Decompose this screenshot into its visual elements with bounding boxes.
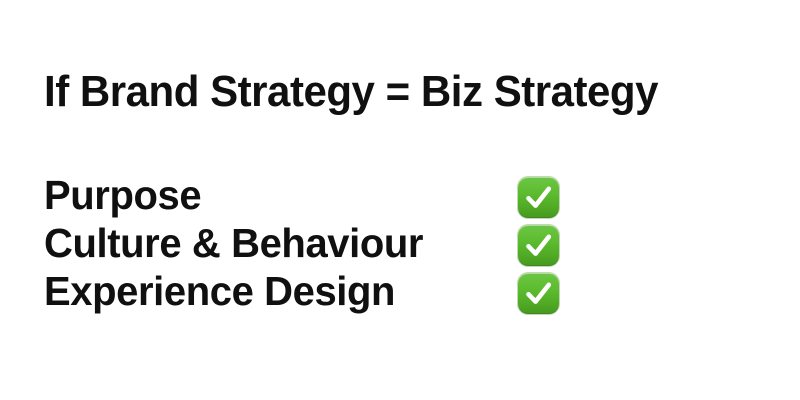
white-check-mark-badge-icon	[518, 177, 559, 218]
white-check-mark-badge-icon	[518, 225, 559, 266]
white-check-mark-badge-icon	[518, 273, 559, 314]
pillar-list: Purpose Culture & Behaviour Experience D…	[0, 172, 800, 316]
slide-canvas: If Brand Strategy = Biz Strategy Purpose…	[0, 0, 800, 400]
page-title: If Brand Strategy = Biz Strategy	[44, 68, 658, 116]
list-item-label: Experience Design	[44, 268, 395, 316]
list-item-label: Culture & Behaviour	[44, 220, 423, 268]
list-item-label: Purpose	[44, 172, 201, 220]
list-item: Experience Design	[0, 268, 800, 316]
list-item: Culture & Behaviour	[0, 220, 800, 268]
list-item: Purpose	[0, 172, 800, 220]
